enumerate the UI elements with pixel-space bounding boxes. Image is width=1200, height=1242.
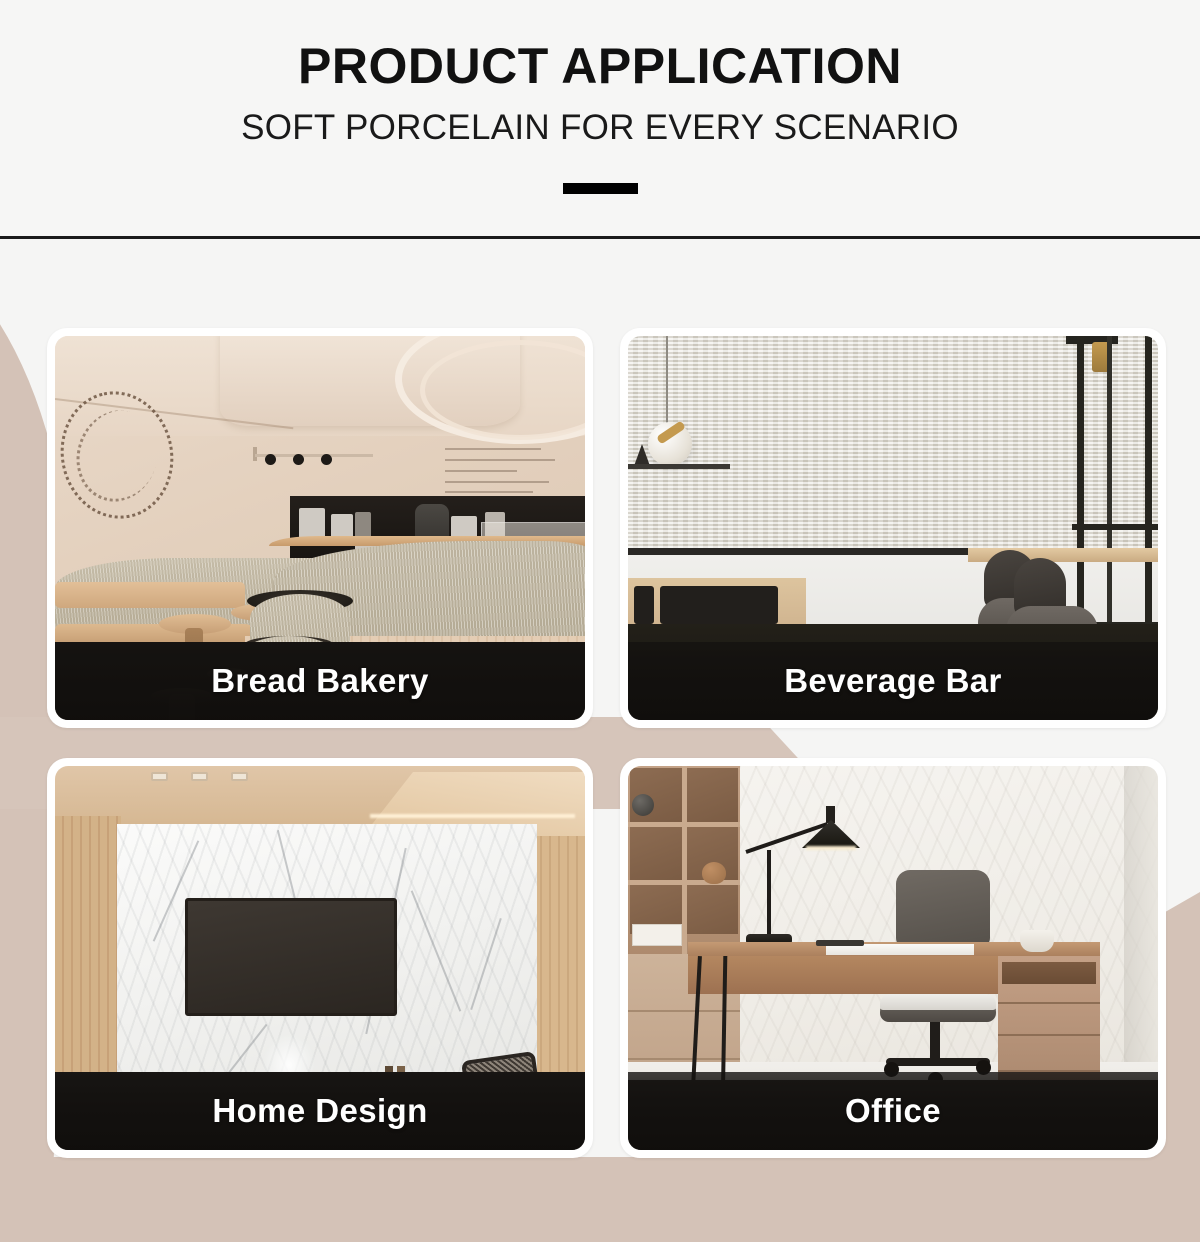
card-label-band: Office xyxy=(628,1072,1158,1150)
card-label-band: Home Design xyxy=(55,1072,585,1150)
card-label-text: Beverage Bar xyxy=(784,662,1002,700)
card-inner: Bread Bakery xyxy=(55,336,585,720)
title-accent-dash xyxy=(563,183,638,194)
application-card-home-design[interactable]: Home Design xyxy=(47,758,593,1158)
card-inner: Office xyxy=(628,766,1158,1150)
card-label-text: Home Design xyxy=(212,1092,427,1130)
header-divider-line xyxy=(0,236,1200,239)
card-label-text: Bread Bakery xyxy=(211,662,429,700)
page-header: PRODUCT APPLICATION SOFT PORCELAIN FOR E… xyxy=(0,0,1200,237)
application-card-beverage-bar[interactable]: Beverage Bar xyxy=(620,328,1166,728)
product-application-page: PRODUCT APPLICATION SOFT PORCELAIN FOR E… xyxy=(0,0,1200,1242)
application-card-office[interactable]: Office xyxy=(620,758,1166,1158)
card-inner: Home Design xyxy=(55,766,585,1150)
card-label-text: Office xyxy=(845,1092,941,1130)
card-inner: Beverage Bar xyxy=(628,336,1158,720)
card-label-band: Bread Bakery xyxy=(55,642,585,720)
page-subtitle: SOFT PORCELAIN FOR EVERY SCENARIO xyxy=(0,108,1200,148)
application-card-bread-bakery[interactable]: Bread Bakery xyxy=(47,328,593,728)
card-label-band: Beverage Bar xyxy=(628,642,1158,720)
decor-shape-bottom-band xyxy=(0,1157,1200,1242)
page-title: PRODUCT APPLICATION xyxy=(0,38,1200,94)
application-card-grid: Bread Bakery xyxy=(47,328,1153,1158)
